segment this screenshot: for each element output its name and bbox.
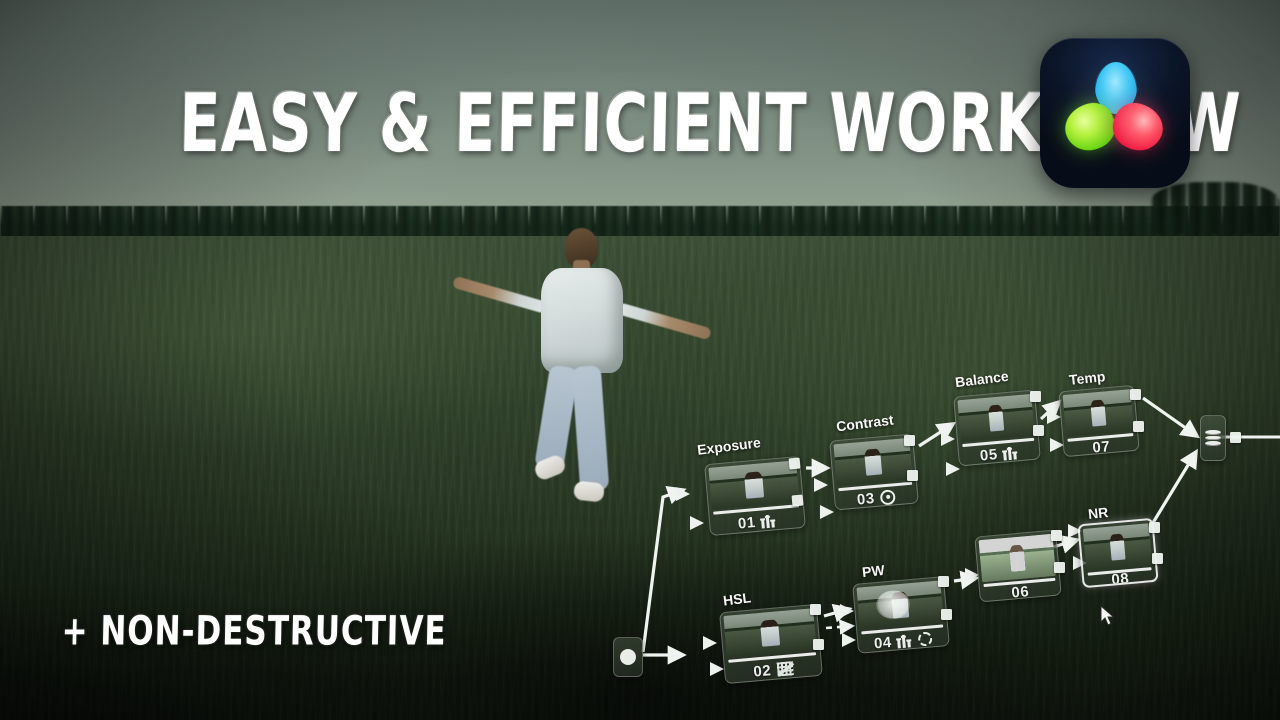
video-thumbnail-stage: EASY & EFFICIENT WORKFLOW + NON-DESTRUCT… xyxy=(0,0,1280,720)
person-shirt xyxy=(541,268,623,373)
davinci-resolve-logo xyxy=(1040,38,1190,188)
subline-text: + NON-DESTRUCTIVE xyxy=(61,612,447,652)
person-front-leg xyxy=(572,365,610,492)
person-right-arm xyxy=(616,302,712,340)
headline-text: EASY & EFFICIENT WORKFLOW xyxy=(178,84,950,164)
running-person xyxy=(480,220,760,540)
person-front-shoe xyxy=(573,480,605,502)
